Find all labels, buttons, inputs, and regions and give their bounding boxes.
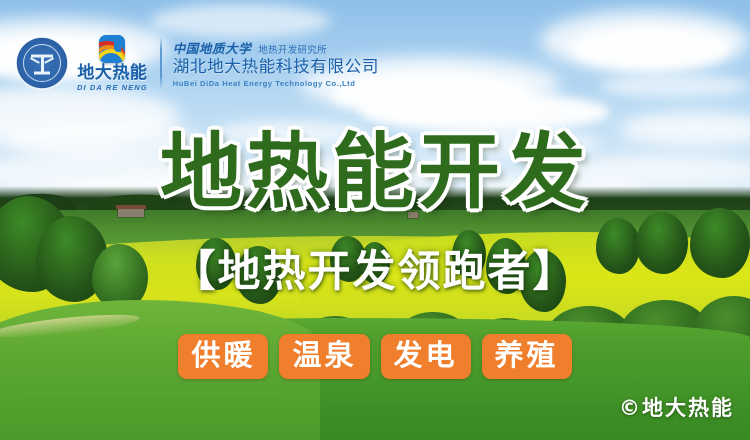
service-tag-heating[interactable]: 供暖 — [178, 334, 268, 379]
service-tag-power[interactable]: 发电 — [381, 334, 471, 379]
institute-name: 地热开发研究所 — [258, 42, 327, 56]
rainbow-square-icon — [99, 35, 125, 63]
logo-divider — [160, 37, 162, 89]
brand-name-en: DI DA RE NENG — [77, 83, 148, 92]
university-name: 中国地质大学 — [173, 38, 252, 57]
company-name-en: HuBei DiDa Heat Energy Technology Co.,Lt… — [173, 79, 379, 88]
seal-glyph — [29, 51, 55, 75]
university-seal-icon — [16, 37, 68, 89]
brand-mark-group: 地大热能 DI DA RE NENG — [77, 35, 148, 92]
grass-stripe — [20, 392, 280, 393]
brand-header[interactable]: 地大热能 DI DA RE NENG 中国地质大学 地热开发研究所 湖北地大热能… — [16, 30, 379, 96]
service-tag-aquaculture[interactable]: 养殖 — [482, 334, 572, 379]
promo-banner: 地大热能 DI DA RE NENG 中国地质大学 地热开发研究所 湖北地大热能… — [0, 0, 750, 440]
hero-headline: 地热能开发 — [0, 132, 750, 214]
copyright-watermark: ©地大热能 — [619, 392, 734, 422]
brand-name-cn: 地大热能 — [77, 65, 147, 82]
service-tag-row: 供暖 温泉 发电 养殖 — [0, 334, 750, 379]
org-top-row: 中国地质大学 地热开发研究所 — [173, 38, 379, 57]
cloud — [600, 74, 750, 98]
hero-subline: 【地热开发领跑者】 — [0, 251, 750, 294]
service-tag-hotspring[interactable]: 温泉 — [279, 334, 369, 379]
org-info: 中国地质大学 地热开发研究所 湖北地大热能科技有限公司 HuBei DiDa H… — [173, 38, 379, 89]
cloud — [570, 26, 730, 70]
company-name-cn: 湖北地大热能科技有限公司 — [173, 57, 379, 78]
